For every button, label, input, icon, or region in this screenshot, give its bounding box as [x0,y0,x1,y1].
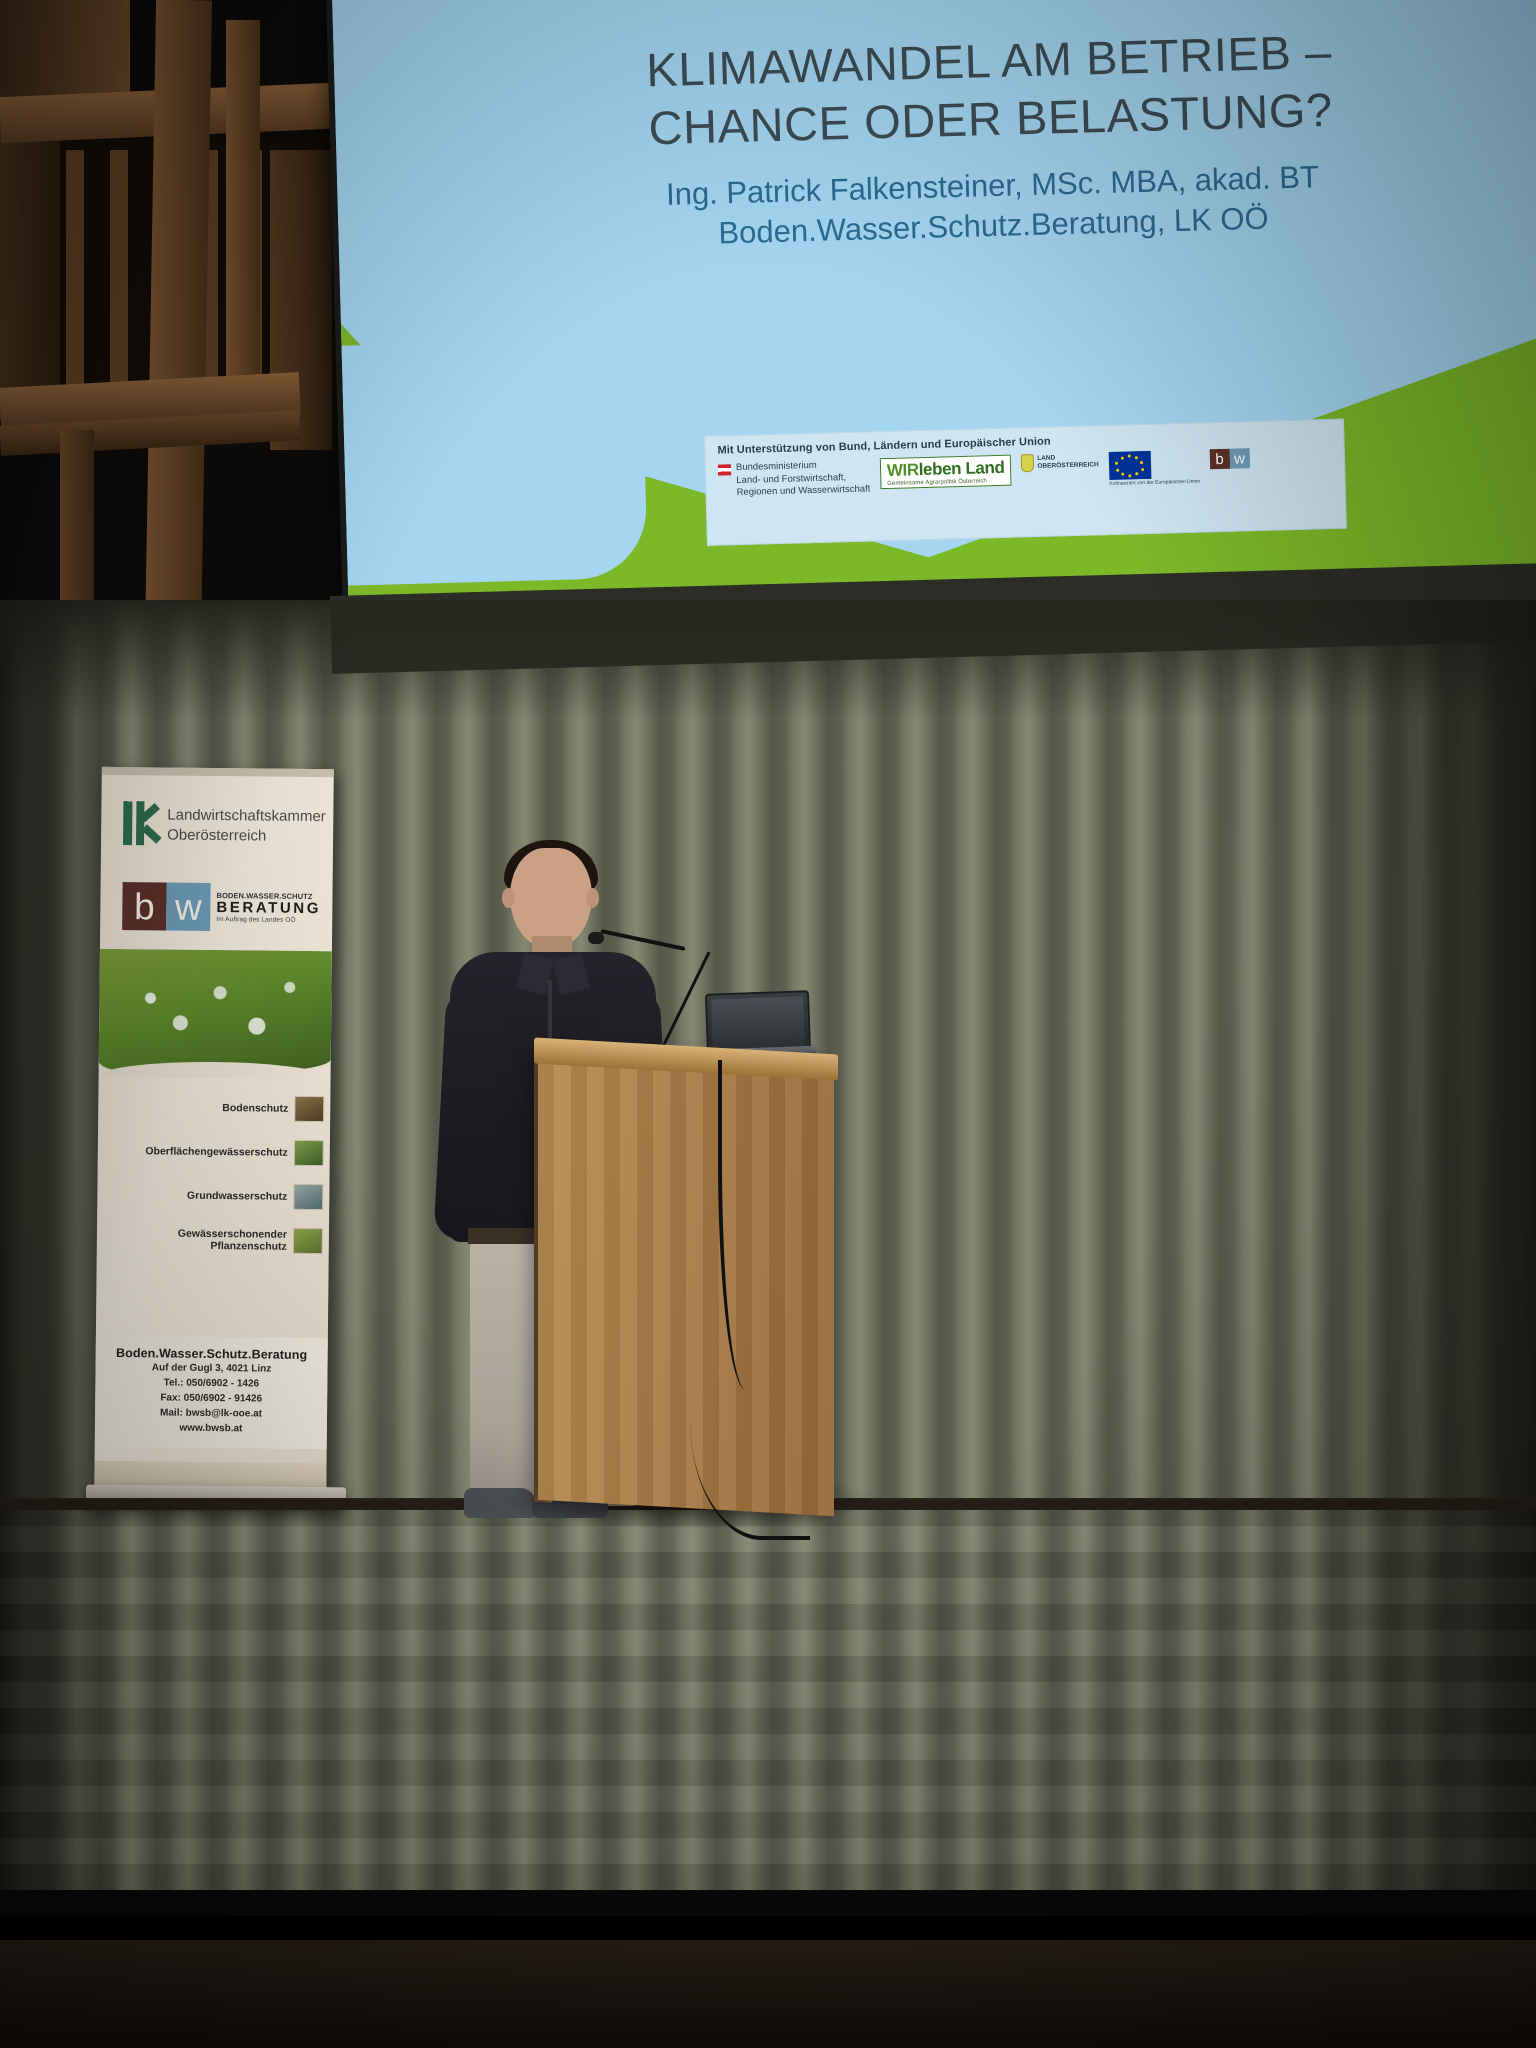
land-ooe-text: LAND OBERÖSTERREICH [1037,453,1099,471]
speaker-ear-right [586,888,599,908]
banner-service-list: Bodenschutz Oberflächengewässerschutz Gr… [97,1085,331,1263]
eu-funding-caption: Kofinanziert von der Europäischen Union [1109,479,1200,487]
land-line-2: OBERÖSTERREICH [1037,461,1099,471]
stage-front-shadow [0,1940,1536,2048]
bw-badge-slide: b w [1209,448,1250,469]
bw-logo: b w BODEN.WASSER.SCHUTZ BERATUNG Im Auft… [122,882,321,932]
microphone-icon [588,932,604,944]
bw-logo-sub-text: Im Auftrag des Landes OÖ [216,916,321,924]
railing-slat [66,150,84,385]
slide-title: KLIMAWANDEL AM BETRIEB – CHANCE ODER BEL… [483,18,1496,161]
austria-flag-icon [718,464,731,475]
eu-funding-logo: Kofinanziert von der Europäischen Union [1108,450,1200,487]
stage-scene: KLIMAWANDEL AM BETRIEB – CHANCE ODER BEL… [0,0,1536,2048]
rollup-banner: Landwirtschaftskammer Oberösterreich b w… [94,767,334,1499]
laptop-screen[interactable] [711,996,805,1049]
bundesministerium-logo: Bundesministerium Land- und Forstwirtsch… [718,458,871,500]
contact-web: www.bwsb.at [105,1420,317,1437]
bw-logo-main-text: BERATUNG [216,900,321,917]
lk-mark-icon [123,801,158,845]
wood-post [144,0,212,700]
ministry-line-3: Regionen und Wasserwirtschaft [736,484,870,500]
presentation-slide: KLIMAWANDEL AM BETRIEB – CHANCE ODER BEL… [332,0,1536,608]
list-item: Bodenschutz [98,1085,330,1131]
leben-land-word: leben Land [918,458,1004,479]
railing-slat [110,150,128,385]
slide-blue-notch [342,338,648,586]
projection-screen: KLIMAWANDEL AM BETRIEB – CHANCE ODER BEL… [332,0,1536,608]
lk-name: Landwirtschaftskammer Oberösterreich [167,801,326,846]
bundesministerium-text: Bundesministerium Land- und Forstwirtsch… [736,458,871,499]
projection-screen-frame: KLIMAWANDEL AM BETRIEB – CHANCE ODER BEL… [326,0,1536,654]
slide-funding-strip: Mit Unterstützung von Bund, Ländern und … [704,419,1347,546]
bw-badge-w: w [1229,448,1250,469]
wir-leben-land-logo: WIRleben Land Gemeinsame Agrarpolitik Ös… [880,455,1012,490]
lk-name-line-1: Landwirtschaftskammer [167,805,326,826]
service-label: Bodenschutz [222,1102,288,1115]
lk-name-line-2: Oberösterreich [167,825,326,846]
list-item: Gewässerschonender Pflanzenschutz [97,1217,329,1263]
speaker-head [510,848,592,948]
service-thumbnail [294,1096,324,1122]
banner-photo-dewdrops [99,949,332,1073]
contact-title: Boden.Wasser.Schutz.Beratung [106,1346,318,1362]
service-label: Oberflächengewässerschutz [145,1145,288,1158]
bw-badge-b: b [1209,449,1230,470]
list-item: Oberflächengewässerschutz [98,1129,330,1175]
service-label: Gewässerschonender Pflanzenschutz [103,1227,287,1253]
banner-top-bar [102,767,334,777]
service-thumbnail [293,1184,323,1210]
coat-of-arms-icon [1021,454,1034,472]
speaker-ear-left [502,888,515,908]
bw-logo-letter-b: b [122,882,167,930]
eu-flag-icon [1108,451,1151,480]
wir-word: WIR [887,460,919,480]
bw-logo-text: BODEN.WASSER.SCHUTZ BERATUNG Im Auftrag … [210,883,321,932]
service-label: Grundwasserschutz [187,1190,287,1203]
wood-beam [226,20,260,420]
land-oberoesterreich-logo: LAND OBERÖSTERREICH [1021,452,1099,472]
service-thumbnail [293,1228,323,1254]
banner-contact-block: Boden.Wasser.Schutz.Beratung Auf der Gug… [95,1336,328,1449]
list-item: Grundwasserschutz [97,1173,329,1219]
bw-logo-letter-w: w [166,882,211,930]
service-thumbnail [294,1140,324,1166]
lk-logo: Landwirtschaftskammer Oberösterreich [123,801,326,847]
slide-subtitle: Ing. Patrick Falkensteiner, MSc. MBA, ak… [487,152,1499,259]
wood-beam [0,120,60,420]
